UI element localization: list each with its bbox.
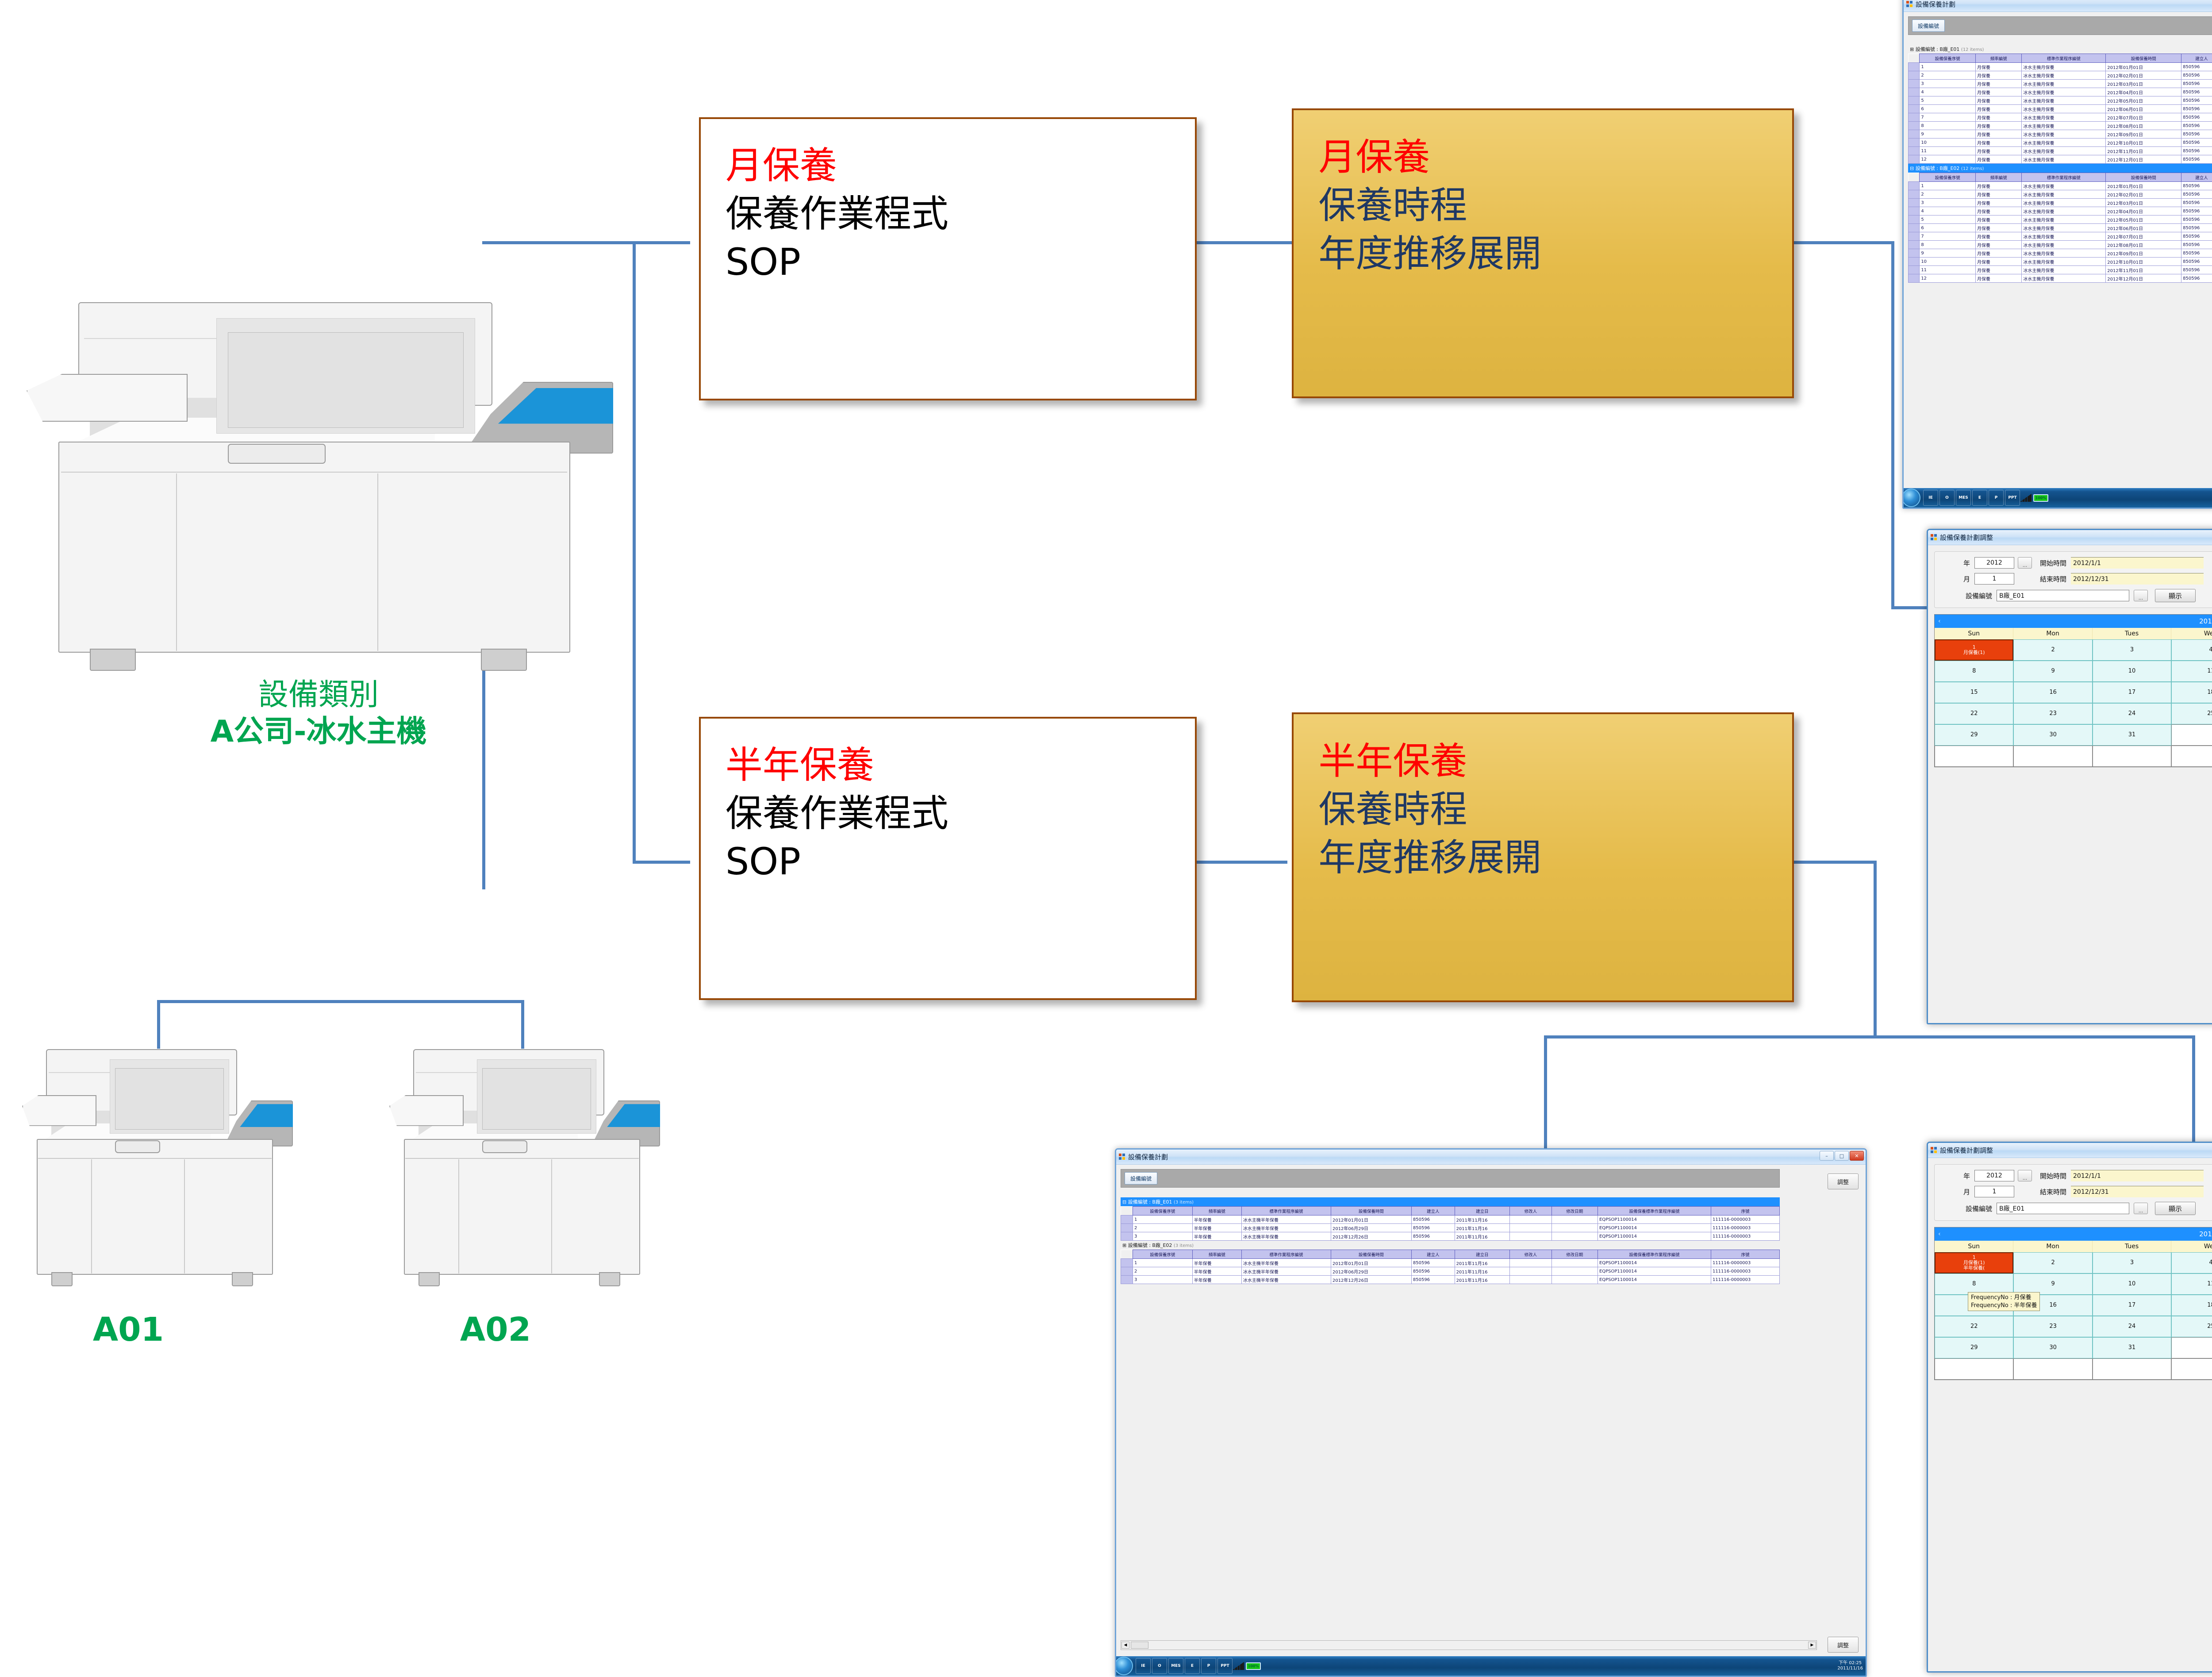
table-cell[interactable]: 1 (1133, 1259, 1192, 1267)
table-cell[interactable]: 4 (1920, 88, 1976, 96)
table-row[interactable]: 7月保養冰水主機月保養2012年07月01日8505962011年11月16EQ… (1909, 232, 2212, 241)
table-cell[interactable]: 月保養 (1975, 266, 2021, 274)
table-row[interactable]: 3月保養冰水主機月保養2012年03月01日8505962011年11月16EQ… (1909, 199, 2212, 207)
calendar-day-grid[interactable]: 1月保養(1)234567891011121314151617181920212… (1935, 639, 2212, 767)
table-cell[interactable]: 2012年12月26日 (1331, 1276, 1411, 1284)
calendar-day-cell[interactable]: 22 (1935, 703, 2013, 724)
grid-column-header[interactable]: 頻率編號 (1192, 1250, 1241, 1259)
end-time-input[interactable]: 2012/12/31 (2071, 573, 2204, 585)
table-cell[interactable]: 2012年10月01日 (2106, 138, 2181, 147)
row-indicator[interactable] (1909, 232, 1920, 241)
row-indicator[interactable] (1909, 224, 1920, 232)
prev-month-button[interactable]: ‹ (1938, 1231, 1941, 1238)
table-cell[interactable]: EQPSOP1100014 (1598, 1259, 1711, 1267)
table-cell[interactable]: 月保養 (1975, 182, 2021, 190)
schedule-monthly-box[interactable]: 月保養 保養時程 年度推移展開 (1292, 108, 1794, 398)
table-cell[interactable] (1510, 1276, 1551, 1284)
table-cell[interactable]: 9 (1920, 130, 1976, 138)
table-cell[interactable]: 2012年12月01日 (2106, 274, 2181, 283)
taskbar-app-icon[interactable]: PPT (2005, 490, 2020, 506)
table-cell[interactable]: 2012年01月01日 (2106, 182, 2181, 190)
signal-icon[interactable] (2020, 494, 2032, 502)
calendar-day-cell[interactable]: 3 (2093, 1252, 2171, 1273)
calendar-day-cell[interactable]: 31 (2093, 724, 2171, 746)
table-cell[interactable]: 2012年06月29日 (1331, 1267, 1411, 1276)
grid-column-header[interactable]: 修改人 (1510, 1250, 1551, 1259)
group-panel[interactable]: 設備編號 (1121, 1169, 1780, 1188)
equipment-no-input[interactable]: B廠_E01 (1997, 590, 2129, 601)
row-indicator[interactable] (1909, 113, 1920, 122)
table-cell[interactable]: 半年保養 (1192, 1215, 1241, 1224)
grid-column-header[interactable]: 建立人 (2181, 173, 2212, 182)
calendar-day-cell[interactable]: 23 (2013, 703, 2092, 724)
calendar-day-cell[interactable]: 25 (2171, 1316, 2212, 1337)
plan-adjust-dialog-bottom[interactable]: 設備保養計劃調整 – □ ✕ 年 2012 ... 開始時間 2012/1/1 … (1927, 1142, 2212, 1673)
maintenance-plan-window-bottom[interactable]: 設備保養計劃 – □ ✕ 設備編號 調整 ⊟ 設備編號 : B廠_E01 (3 … (1115, 1148, 1867, 1677)
table-cell[interactable]: 月保養 (1975, 63, 2021, 71)
row-indicator[interactable] (1909, 199, 1920, 207)
grid-column-header[interactable]: 標準作業程序編號 (1241, 1250, 1331, 1259)
grid-column-header[interactable]: 設備保養序號 (1133, 1250, 1192, 1259)
minimize-button[interactable]: – (1820, 1151, 1834, 1161)
row-indicator[interactable] (1121, 1259, 1133, 1267)
table-cell[interactable]: 半年保養 (1192, 1232, 1241, 1241)
table-cell[interactable]: 冰水主機半年保養 (1241, 1215, 1331, 1224)
table-cell[interactable] (1551, 1276, 1598, 1284)
table-cell[interactable]: 2012年02月01日 (2106, 190, 2181, 199)
table-cell[interactable]: 850596 (2181, 199, 2212, 207)
calendar-day-cell[interactable]: 1月保養(1) (1935, 639, 2013, 661)
taskbar-app-icon[interactable]: MES (1168, 1658, 1183, 1674)
table-cell[interactable]: 10 (1920, 258, 1976, 266)
grid-column-header[interactable]: 序號 (1711, 1207, 1779, 1215)
group-expander[interactable]: ⊞ (1910, 46, 1916, 52)
table-cell[interactable]: 冰水主機月保養 (2022, 147, 2106, 155)
start-orb-icon[interactable] (1902, 488, 1920, 507)
table-cell[interactable]: 月保養 (1975, 88, 2021, 96)
plan-adjust-dialog-top[interactable]: 設備保養計劃調整 – □ ✕ 年 2012 ... 開始時間 2012/1/1 … (1927, 529, 2212, 1024)
table-cell[interactable]: 2012年09月01日 (2106, 130, 2181, 138)
sop-monthly-box[interactable]: 月保養 保養作業程式 SOP (699, 117, 1197, 400)
table-cell[interactable]: 111116-0000003 (1711, 1276, 1779, 1284)
table-cell[interactable] (1551, 1232, 1598, 1241)
grid-column-header[interactable]: 修改日期 (1551, 1250, 1598, 1259)
table-cell[interactable] (1510, 1259, 1551, 1267)
taskbar-app-icon[interactable]: E (1185, 1658, 1200, 1674)
grid-column-header[interactable]: 設備保養序號 (1920, 54, 1976, 63)
calendar-day-cell[interactable]: 24 (2093, 1316, 2171, 1337)
table-cell[interactable]: 月保養 (1975, 71, 2021, 80)
row-indicator[interactable] (1909, 190, 1920, 199)
table-cell[interactable]: 4 (1920, 207, 1976, 215)
table-cell[interactable]: 1 (1920, 182, 1976, 190)
grid-bottom-host[interactable]: ⊟ 設備編號 : B廠_E01 (3 items)設備保養序號頻率編號標準作業程… (1121, 1197, 1780, 1284)
equipment-no-input[interactable]: B廠_E01 (1997, 1203, 2129, 1214)
table-row[interactable]: 12月保養冰水主機月保養2012年12月01日8505962011年11月16E… (1909, 155, 2212, 164)
row-indicator[interactable] (1121, 1276, 1133, 1284)
dialog-title-bar[interactable]: 設備保養計劃調整 – □ ✕ (1928, 1143, 2212, 1158)
grid-column-header[interactable]: 頻率編號 (1975, 54, 2021, 63)
table-cell[interactable]: 月保養 (1975, 138, 2021, 147)
table-cell[interactable]: 冰水主機月保養 (2022, 122, 2106, 130)
table-cell[interactable]: 月保養 (1975, 96, 2021, 105)
grid-column-header[interactable]: 修改日期 (1551, 1207, 1598, 1215)
grid-column-header[interactable]: 設備保養時間 (1331, 1250, 1411, 1259)
table-cell[interactable]: 5 (1920, 96, 1976, 105)
table-cell[interactable]: 3 (1133, 1276, 1192, 1284)
table-cell[interactable]: 冰水主機月保養 (2022, 88, 2106, 96)
calendar-day-cell[interactable]: 29 (1935, 724, 2013, 746)
table-cell[interactable]: 850596 (2181, 190, 2212, 199)
grid-column-header[interactable]: 標準作業程序編號 (2022, 54, 2106, 63)
table-row[interactable]: 1月保養冰水主機月保養2012年01月01日8505962011年11月16EQ… (1909, 182, 2212, 190)
table-row[interactable]: 2半年保養冰水主機半年保養2012年06月29日8505962011年11月16… (1121, 1224, 1780, 1232)
grid-column-header[interactable]: 頻率編號 (1192, 1207, 1241, 1215)
horizontal-scrollbar[interactable]: ◀ ▶ (1121, 1640, 1817, 1650)
group-chip-equipment-no[interactable]: 設備編號 (1912, 19, 1945, 32)
calendar-day-cell[interactable]: 30 (2013, 1337, 2092, 1358)
table-row[interactable]: 4月保養冰水主機月保養2012年04月01日8505962011年11月16EQ… (1909, 207, 2212, 215)
row-indicator[interactable] (1909, 147, 1920, 155)
calendar-day-cell[interactable]: 23 (2013, 1316, 2092, 1337)
table-cell[interactable]: EQPSOP1100014 (1598, 1276, 1711, 1284)
table-cell[interactable]: 冰水主機月保養 (2022, 274, 2106, 283)
table-cell[interactable]: 冰水主機半年保養 (1241, 1232, 1331, 1241)
table-row[interactable]: 6月保養冰水主機月保養2012年06月01日8505962011年11月16EQ… (1909, 224, 2212, 232)
table-cell[interactable]: EQPSOP1100014 (1598, 1215, 1711, 1224)
table-cell[interactable]: 冰水主機月保養 (2022, 182, 2106, 190)
table-cell[interactable] (1510, 1224, 1551, 1232)
table-cell[interactable]: 850596 (2181, 258, 2212, 266)
table-cell[interactable]: 月保養 (1975, 258, 2021, 266)
table-cell[interactable]: 半年保養 (1192, 1267, 1241, 1276)
grid-column-header[interactable]: 設備保養序號 (1133, 1207, 1192, 1215)
table-row[interactable]: 8月保養冰水主機月保養2012年08月01日8505962011年11月16EQ… (1909, 122, 2212, 130)
row-indicator[interactable] (1909, 122, 1920, 130)
grid-column-header[interactable]: 建立人 (1411, 1207, 1455, 1215)
table-cell[interactable]: 850596 (1411, 1224, 1455, 1232)
row-indicator[interactable] (1909, 138, 1920, 147)
table-cell[interactable]: 6 (1920, 105, 1976, 113)
row-indicator[interactable] (1909, 105, 1920, 113)
table-cell[interactable]: 冰水主機月保養 (2022, 232, 2106, 241)
table-cell[interactable]: 2011年11月16 (1455, 1224, 1510, 1232)
start-orb-icon[interactable] (1115, 1657, 1133, 1675)
table-cell[interactable]: 2012年03月01日 (2106, 199, 2181, 207)
scroll-left-arrow[interactable]: ◀ (1121, 1642, 1129, 1649)
taskbar-bottom[interactable]: IEOMESEPPPT 100% 下午 02:25 2011/11/16 (1116, 1656, 1866, 1676)
calendar-day-cell[interactable]: 17 (2093, 682, 2171, 703)
table-cell[interactable]: 850596 (2181, 113, 2212, 122)
table-cell[interactable]: 2012年06月29日 (1331, 1224, 1411, 1232)
maintenance-grid[interactable]: 設備保養序號頻率編號標準作業程序編號設備保養時間建立人建立日修改人修改日期設備保… (1121, 1206, 1780, 1241)
table-cell[interactable]: 2011年11月16 (1455, 1215, 1510, 1224)
table-cell[interactable]: 850596 (2181, 80, 2212, 88)
row-indicator[interactable] (1909, 249, 1920, 258)
row-indicator[interactable] (1909, 130, 1920, 138)
table-cell[interactable]: 3 (1133, 1232, 1192, 1241)
group-expander[interactable]: ⊟ (1910, 165, 1916, 171)
table-cell[interactable]: 2012年05月01日 (2106, 96, 2181, 105)
table-cell[interactable]: 850596 (2181, 155, 2212, 164)
table-row[interactable]: 10月保養冰水主機月保養2012年10月01日8505962011年11月16E… (1909, 258, 2212, 266)
group-panel[interactable]: 設備編號 (1908, 16, 2212, 35)
row-indicator[interactable] (1909, 96, 1920, 105)
start-time-input[interactable]: 2012/1/1 (2071, 1170, 2204, 1181)
calendar-day-cell[interactable]: 4 (2171, 639, 2212, 661)
taskbar-app-icon[interactable]: IE (1923, 490, 1938, 506)
table-cell[interactable]: 月保養 (1975, 155, 2021, 164)
table-cell[interactable]: 2012年12月01日 (2106, 155, 2181, 164)
table-cell[interactable]: 850596 (2181, 224, 2212, 232)
table-row[interactable]: 2半年保養冰水主機半年保養2012年06月29日8505962011年11月16… (1121, 1267, 1780, 1276)
table-cell[interactable]: 月保養 (1975, 274, 2021, 283)
table-cell[interactable]: 2012年10月01日 (2106, 258, 2181, 266)
table-cell[interactable]: 2012年01月01日 (1331, 1259, 1411, 1267)
year-browse-button[interactable]: ... (2018, 1170, 2032, 1181)
grid-column-header[interactable]: 建立人 (1411, 1250, 1455, 1259)
calendar-day-grid[interactable]: 1月保養(1)半年保養(2345678910111213141516171819… (1935, 1252, 2212, 1380)
table-cell[interactable]: 2 (1920, 190, 1976, 199)
year-input[interactable]: 2012 (1974, 557, 2014, 569)
grid-column-header[interactable]: 標準作業程序編號 (1241, 1207, 1331, 1215)
table-cell[interactable]: 月保養 (1975, 190, 2021, 199)
maintenance-plan-window-top[interactable]: 設備保養計劃 – □ ✕ 設備編號 調整 ⊞ 設備編號 : B廠_E01 (12… (1902, 0, 2212, 509)
table-cell[interactable]: 2011年11月16 (1455, 1232, 1510, 1241)
grid-column-header[interactable]: 頻率編號 (1975, 173, 2021, 182)
table-cell[interactable]: 850596 (1411, 1276, 1455, 1284)
table-cell[interactable]: 冰水主機月保養 (2022, 258, 2106, 266)
table-cell[interactable]: 冰水主機半年保養 (1241, 1276, 1331, 1284)
table-cell[interactable]: 月保養 (1975, 130, 2021, 138)
title-bar[interactable]: 設備保養計劃 – □ ✕ (1904, 0, 2212, 12)
scroll-right-arrow[interactable]: ▶ (1808, 1642, 1816, 1649)
table-cell[interactable] (1551, 1259, 1598, 1267)
taskbar-app-icon[interactable]: IE (1136, 1658, 1151, 1674)
table-cell[interactable]: 冰水主機月保養 (2022, 71, 2106, 80)
year-browse-button[interactable]: ... (2018, 557, 2032, 569)
signal-icon[interactable] (1233, 1662, 1244, 1670)
table-cell[interactable]: 月保養 (1975, 224, 2021, 232)
table-cell[interactable]: 850596 (2181, 232, 2212, 241)
dialog-title-bar[interactable]: 設備保養計劃調整 – □ ✕ (1928, 530, 2212, 545)
table-cell[interactable]: 850596 (2181, 105, 2212, 113)
grid-column-header[interactable]: 建立日 (1455, 1207, 1510, 1215)
taskbar-icons[interactable]: IEOMESEPPPT (1923, 490, 2020, 506)
calendar-top[interactable]: ‹ 2012/1 › SunMonTuesWedThurFriSat 1月保養(… (1934, 614, 2212, 767)
table-cell[interactable]: 850596 (2181, 71, 2212, 80)
prev-month-button[interactable]: ‹ (1938, 618, 1941, 625)
table-row[interactable]: 5月保養冰水主機月保養2012年05月01日8505962011年11月16EQ… (1909, 215, 2212, 224)
grid-column-header[interactable]: 設備保養標準作業程序編號 (1598, 1250, 1711, 1259)
table-cell[interactable]: 2012年06月01日 (2106, 105, 2181, 113)
grid-group-header[interactable]: ⊞ 設備編號 : B廠_E02 (3 items) (1121, 1241, 1780, 1250)
table-cell[interactable]: 111116-0000003 (1711, 1232, 1779, 1241)
table-cell[interactable]: 冰水主機半年保養 (1241, 1267, 1331, 1276)
row-indicator[interactable] (1121, 1215, 1133, 1224)
calendar-day-cell[interactable]: 1月保養(1)半年保養( (1935, 1252, 2013, 1273)
grid-column-header[interactable]: 設備保養時間 (2106, 54, 2181, 63)
row-indicator[interactable] (1909, 88, 1920, 96)
table-row[interactable]: 8月保養冰水主機月保養2012年08月01日8505962011年11月16EQ… (1909, 241, 2212, 249)
table-cell[interactable]: EQPSOP1100014 (1598, 1232, 1711, 1241)
table-cell[interactable]: 111116-0000003 (1711, 1215, 1779, 1224)
show-button[interactable]: 顯示 (2155, 589, 2196, 602)
table-cell[interactable]: 2012年09月01日 (2106, 249, 2181, 258)
grid-column-header[interactable]: 序號 (1711, 1250, 1779, 1259)
calendar-day-cell[interactable]: 18 (2171, 1295, 2212, 1316)
table-cell[interactable]: 半年保養 (1192, 1276, 1241, 1284)
table-cell[interactable]: 冰水主機月保養 (2022, 80, 2106, 88)
start-time-input[interactable]: 2012/1/1 (2071, 557, 2204, 569)
table-cell[interactable]: 冰水主機月保養 (2022, 199, 2106, 207)
table-cell[interactable]: 5 (1920, 215, 1976, 224)
schedule-halfyear-box[interactable]: 半年保養 保養時程 年度推移展開 (1292, 712, 1794, 1002)
calendar-day-cell[interactable]: 3 (2093, 639, 2171, 661)
table-cell[interactable]: 2012年02月01日 (2106, 71, 2181, 80)
row-indicator[interactable] (1909, 182, 1920, 190)
show-button[interactable]: 顯示 (2155, 1202, 2196, 1215)
table-cell[interactable]: 半年保養 (1192, 1259, 1241, 1267)
table-cell[interactable]: 850596 (2181, 130, 2212, 138)
row-indicator[interactable] (1909, 207, 1920, 215)
table-cell[interactable]: 2012年08月01日 (2106, 241, 2181, 249)
group-expander[interactable]: ⊞ (1122, 1242, 1128, 1248)
row-indicator[interactable] (1909, 80, 1920, 88)
equipment-browse-button[interactable]: ... (2134, 590, 2148, 601)
calendar-day-cell[interactable]: 9 (2013, 661, 2092, 682)
table-cell[interactable]: 850596 (2181, 138, 2212, 147)
table-cell[interactable]: 冰水主機月保養 (2022, 63, 2106, 71)
table-cell[interactable]: 冰水主機半年保養 (1241, 1224, 1331, 1232)
table-cell[interactable]: 月保養 (1975, 207, 2021, 215)
table-cell[interactable]: 冰水主機月保養 (2022, 215, 2106, 224)
equipment-browse-button[interactable]: ... (2134, 1203, 2148, 1214)
row-indicator[interactable] (1909, 71, 1920, 80)
table-cell[interactable]: 2011年11月16 (1455, 1276, 1510, 1284)
table-cell[interactable]: 850596 (2181, 147, 2212, 155)
calendar-day-cell[interactable]: 29 (1935, 1337, 2013, 1358)
table-cell[interactable] (1551, 1267, 1598, 1276)
row-indicator[interactable] (1909, 63, 1920, 71)
table-row[interactable]: 9月保養冰水主機月保養2012年09月01日8505962011年11月16EQ… (1909, 130, 2212, 138)
table-cell[interactable]: 冰水主機半年保養 (1241, 1259, 1331, 1267)
table-cell[interactable]: 8 (1920, 122, 1976, 130)
table-row[interactable]: 9月保養冰水主機月保養2012年09月01日8505962011年11月16EQ… (1909, 249, 2212, 258)
table-cell[interactable]: 冰水主機月保養 (2022, 113, 2106, 122)
table-cell[interactable]: 冰水主機月保養 (2022, 130, 2106, 138)
table-cell[interactable]: 月保養 (1975, 232, 2021, 241)
table-cell[interactable]: 3 (1920, 80, 1976, 88)
month-input[interactable]: 1 (1974, 573, 2014, 585)
table-cell[interactable]: 850596 (1411, 1259, 1455, 1267)
calendar-day-cell[interactable]: 9 (2013, 1273, 2092, 1295)
table-cell[interactable]: 9 (1920, 249, 1976, 258)
table-cell[interactable]: 2 (1920, 71, 1976, 80)
table-cell[interactable]: 月保養 (1975, 122, 2021, 130)
taskbar-top[interactable]: IEOMESEPPPT 100% 下午 02:20 2011/11/16 (1904, 488, 2212, 508)
grid-column-header[interactable]: 標準作業程序編號 (2022, 173, 2106, 182)
clock[interactable]: 下午 02:25 2011/11/16 (1837, 1661, 1863, 1672)
table-cell[interactable]: 2012年11月01日 (2106, 147, 2181, 155)
table-cell[interactable]: 7 (1920, 113, 1976, 122)
table-cell[interactable]: 冰水主機月保養 (2022, 249, 2106, 258)
table-cell[interactable]: EQPSOP1100014 (1598, 1267, 1711, 1276)
taskbar-app-icon[interactable]: MES (1956, 490, 1971, 506)
table-cell[interactable]: 850596 (2181, 88, 2212, 96)
table-cell[interactable]: 月保養 (1975, 147, 2021, 155)
calendar-day-cell[interactable]: 31 (2093, 1337, 2171, 1358)
calendar-day-cell[interactable]: 18 (2171, 682, 2212, 703)
table-cell[interactable]: 7 (1920, 232, 1976, 241)
table-row[interactable]: 11月保養冰水主機月保養2012年11月01日8505962011年11月16E… (1909, 147, 2212, 155)
grid-column-header[interactable]: 修改人 (1510, 1207, 1551, 1215)
maintenance-grid[interactable]: 設備保養序號頻率編號標準作業程序編號設備保養時間建立人建立日修改人修改日期設備保… (1121, 1250, 1780, 1284)
table-cell[interactable]: 850596 (1411, 1232, 1455, 1241)
row-indicator[interactable] (1909, 155, 1920, 164)
grid-group-header[interactable]: ⊟ 設備編號 : B廠_E02 (12 items) (1908, 164, 2212, 173)
row-indicator[interactable] (1909, 266, 1920, 274)
calendar-day-cell[interactable]: 4 (2171, 1252, 2212, 1273)
row-indicator[interactable] (1909, 215, 1920, 224)
row-indicator[interactable] (1121, 1267, 1133, 1276)
table-cell[interactable]: 2012年05月01日 (2106, 215, 2181, 224)
calendar-day-cell[interactable]: 10 (2093, 661, 2171, 682)
taskbar-app-icon[interactable]: PPT (1217, 1658, 1233, 1674)
row-indicator[interactable] (1909, 274, 1920, 283)
table-cell[interactable]: 月保養 (1975, 249, 2021, 258)
table-cell[interactable]: 2012年01月01日 (2106, 63, 2181, 71)
adjust-button[interactable]: 調整 (1828, 1173, 1859, 1189)
table-cell[interactable]: 11 (1920, 147, 1976, 155)
calendar-day-cell[interactable]: 16 (2013, 682, 2092, 703)
grid-column-header[interactable]: 設備保養序號 (1920, 173, 1976, 182)
row-indicator[interactable] (1909, 258, 1920, 266)
taskbar-app-icon[interactable]: O (1152, 1658, 1167, 1674)
grid-top-host[interactable]: ⊞ 設備編號 : B廠_E01 (12 items)設備保養序號頻率編號標準作業… (1908, 45, 2212, 283)
title-bar[interactable]: 設備保養計劃 – □ ✕ (1116, 1150, 1866, 1165)
calendar-day-cell[interactable]: 24 (2093, 703, 2171, 724)
grid-group-header[interactable]: ⊞ 設備編號 : B廠_E01 (12 items) (1908, 45, 2212, 54)
close-button[interactable]: ✕ (1850, 1151, 1864, 1161)
table-row[interactable]: 2月保養冰水主機月保養2012年02月01日8505962011年11月16EQ… (1909, 71, 2212, 80)
table-cell[interactable]: 2012年11月01日 (2106, 266, 2181, 274)
table-cell[interactable] (1551, 1215, 1598, 1224)
table-row[interactable]: 3半年保養冰水主機半年保養2012年12月26日8505962011年11月16… (1121, 1276, 1780, 1284)
table-cell[interactable]: 2012年04月01日 (2106, 207, 2181, 215)
table-cell[interactable]: 850596 (2181, 266, 2212, 274)
table-cell[interactable]: 2012年12月26日 (1331, 1232, 1411, 1241)
calendar-day-cell[interactable]: 30 (2013, 724, 2092, 746)
table-cell[interactable]: 2012年06月01日 (2106, 224, 2181, 232)
table-cell[interactable]: 850596 (2181, 215, 2212, 224)
table-row[interactable]: 4月保養冰水主機月保養2012年04月01日8505962011年11月16EQ… (1909, 88, 2212, 96)
table-cell[interactable]: 月保養 (1975, 113, 2021, 122)
calendar-day-cell[interactable]: 8 (1935, 1273, 2013, 1295)
calendar-day-cell[interactable]: 8 (1935, 661, 2013, 682)
calendar-day-cell[interactable]: 17 (2093, 1295, 2171, 1316)
table-row[interactable]: 7月保養冰水主機月保養2012年07月01日8505962011年11月16EQ… (1909, 113, 2212, 122)
table-cell[interactable]: 850596 (2181, 207, 2212, 215)
table-cell[interactable]: 2012年01月01日 (1331, 1215, 1411, 1224)
taskbar-app-icon[interactable]: E (1972, 490, 1987, 506)
end-time-input[interactable]: 2012/12/31 (2071, 1186, 2204, 1197)
calendar-day-cell[interactable]: 11 (2171, 661, 2212, 682)
grid-group-header[interactable]: ⊟ 設備編號 : B廠_E01 (3 items) (1121, 1197, 1780, 1206)
table-cell[interactable]: 12 (1920, 274, 1976, 283)
table-cell[interactable]: 111116-0000003 (1711, 1267, 1779, 1276)
table-cell[interactable]: 10 (1920, 138, 1976, 147)
